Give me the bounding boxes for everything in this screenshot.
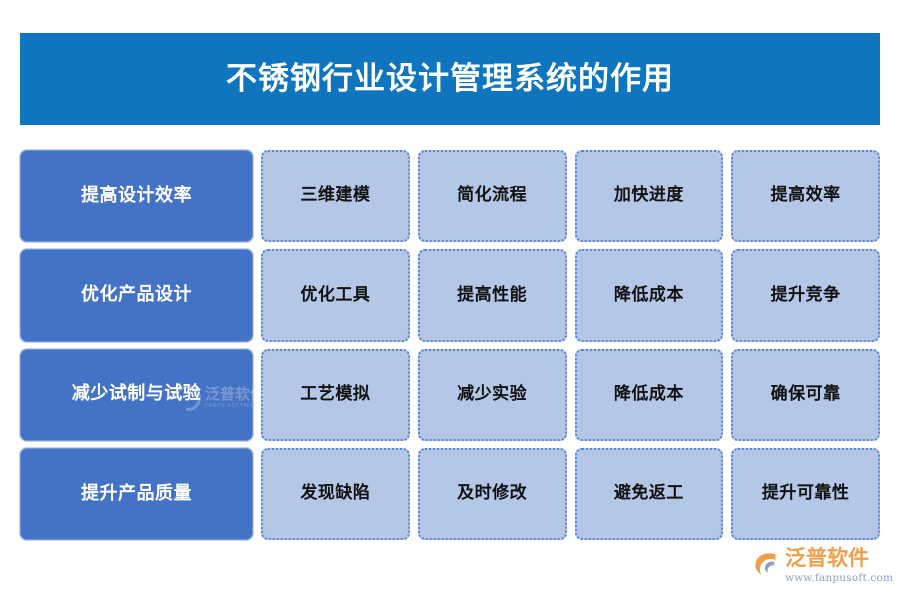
brand-logo-text: 泛普软件 www.fanpusoft.com <box>785 548 893 584</box>
matrix-row: 提升产品质量 发现缺陷 及时修改 避免返工 提升可靠性 <box>20 448 880 540</box>
category-card-3[interactable]: 减少试制与试验 <box>20 349 253 441</box>
slide-canvas: 不锈钢行业设计管理系统的作用 提高设计效率 三维建模 简化流程 加快进度 提高效… <box>0 0 900 600</box>
detail-card-3-1[interactable]: 工艺模拟 <box>261 349 410 441</box>
brand-url: www.fanpusoft.com <box>785 572 893 584</box>
detail-card-2-2[interactable]: 提高性能 <box>418 249 567 341</box>
page-title: 不锈钢行业设计管理系统的作用 <box>226 64 674 95</box>
detail-card-1-2[interactable]: 简化流程 <box>418 150 567 242</box>
detail-card-label: 确保可靠 <box>771 385 841 405</box>
detail-card-4-3[interactable]: 避免返工 <box>575 448 724 540</box>
detail-card-3-4[interactable]: 确保可靠 <box>731 349 880 441</box>
detail-card-3-2[interactable]: 减少实验 <box>418 349 567 441</box>
header-banner: 不锈钢行业设计管理系统的作用 <box>20 33 880 125</box>
detail-card-label: 提高效率 <box>771 186 841 206</box>
detail-card-2-1[interactable]: 优化工具 <box>261 249 410 341</box>
detail-card-1-1[interactable]: 三维建模 <box>261 150 410 242</box>
detail-card-label: 降低成本 <box>614 385 684 405</box>
matrix-row: 提高设计效率 三维建模 简化流程 加快进度 提高效率 <box>20 150 880 242</box>
category-card-label: 提升产品质量 <box>81 484 192 505</box>
detail-card-1-4[interactable]: 提高效率 <box>731 150 880 242</box>
detail-card-4-1[interactable]: 发现缺陷 <box>261 448 410 540</box>
brand-logo[interactable]: 泛普软件 www.fanpusoft.com <box>752 548 888 592</box>
detail-card-label: 简化流程 <box>457 186 527 206</box>
detail-card-label: 提升可靠性 <box>762 484 850 504</box>
detail-card-3-3[interactable]: 降低成本 <box>575 349 724 441</box>
detail-card-label: 优化工具 <box>300 286 370 306</box>
category-card-label: 提高设计效率 <box>81 186 192 207</box>
detail-card-1-3[interactable]: 加快进度 <box>575 150 724 242</box>
detail-card-2-3[interactable]: 降低成本 <box>575 249 724 341</box>
brand-name: 泛普软件 <box>785 548 893 569</box>
category-card-label: 减少试制与试验 <box>72 384 202 405</box>
detail-card-label: 提高性能 <box>457 286 527 306</box>
detail-card-label: 避免返工 <box>614 484 684 504</box>
category-card-2[interactable]: 优化产品设计 <box>20 249 253 341</box>
matrix-row: 减少试制与试验 工艺模拟 减少实验 降低成本 确保可靠 <box>20 349 880 441</box>
fanpu-swoosh-icon <box>752 550 780 578</box>
detail-card-label: 三维建模 <box>300 186 370 206</box>
detail-card-label: 降低成本 <box>614 286 684 306</box>
benefits-matrix: 提高设计效率 三维建模 简化流程 加快进度 提高效率 优化产品设计 优化工具 <box>20 150 880 540</box>
detail-card-label: 及时修改 <box>457 484 527 504</box>
detail-card-label: 提升竞争 <box>771 286 841 306</box>
category-card-label: 优化产品设计 <box>81 285 192 306</box>
matrix-row: 优化产品设计 优化工具 提高性能 降低成本 提升竞争 <box>20 249 880 341</box>
category-card-4[interactable]: 提升产品质量 <box>20 448 253 540</box>
detail-card-2-4[interactable]: 提升竞争 <box>731 249 880 341</box>
detail-card-label: 减少实验 <box>457 385 527 405</box>
detail-card-4-2[interactable]: 及时修改 <box>418 448 567 540</box>
detail-card-label: 工艺模拟 <box>300 385 370 405</box>
detail-card-label: 发现缺陷 <box>300 484 370 504</box>
detail-card-label: 加快进度 <box>614 186 684 206</box>
detail-card-4-4[interactable]: 提升可靠性 <box>731 448 880 540</box>
category-card-1[interactable]: 提高设计效率 <box>20 150 253 242</box>
